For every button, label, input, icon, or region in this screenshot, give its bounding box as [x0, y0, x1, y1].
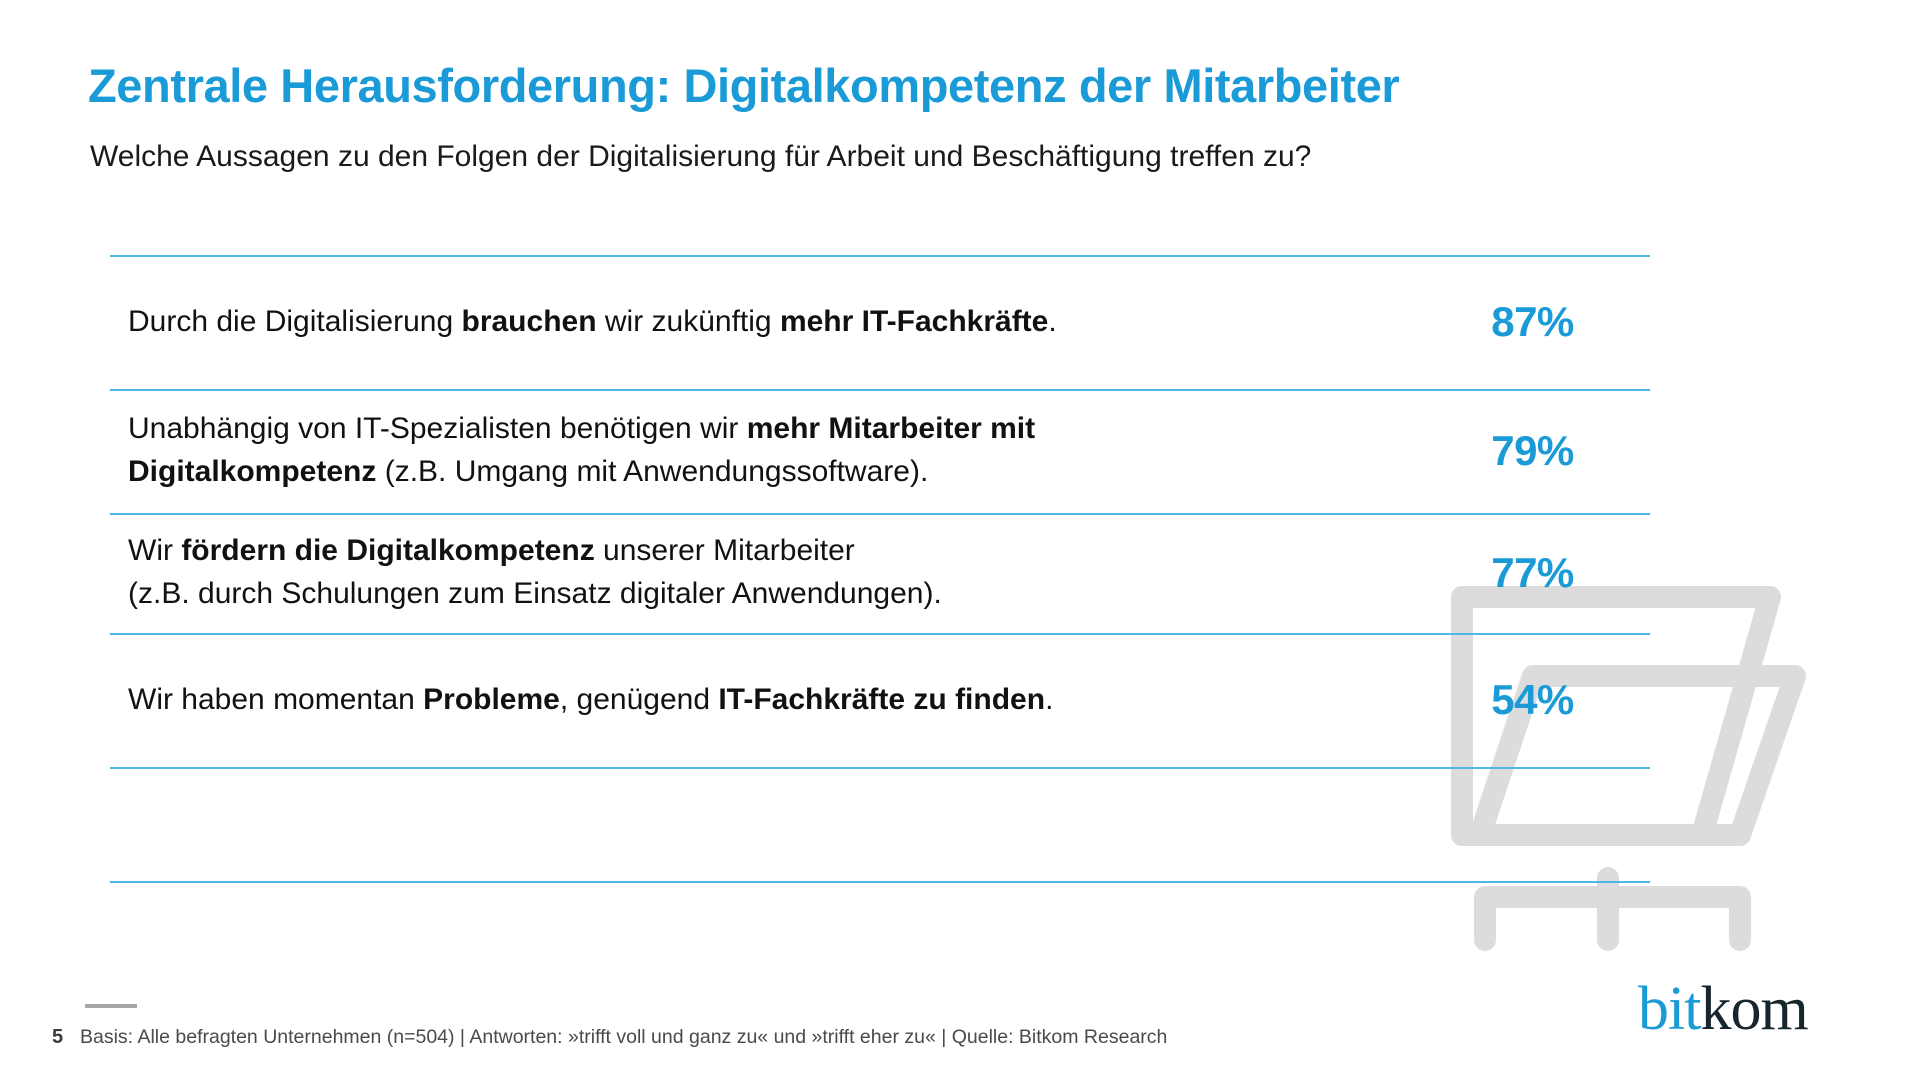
statement-text: Durch die Digitalisierung brauchen wir z…	[110, 301, 1415, 344]
logo-part-blue: bit	[1638, 975, 1700, 1043]
footer-source-note: Basis: Alle befragten Unternehmen (n=504…	[80, 1026, 1167, 1049]
page-title: Zentrale Herausforderung: Digitalkompete…	[88, 58, 1399, 113]
logo-part-dark: kom	[1700, 975, 1807, 1043]
table-row: Wir haben momentan Probleme, genügend IT…	[110, 633, 1650, 767]
page-subtitle: Welche Aussagen zu den Folgen der Digita…	[90, 140, 1311, 174]
table-row: Durch die Digitalisierung brauchen wir z…	[110, 255, 1650, 389]
table-row: Wir fördern die Digitalkompetenz unserer…	[110, 513, 1650, 633]
statement-text: Unabhängig von IT-Spezialisten benötigen…	[110, 408, 1415, 493]
statements-table: Durch die Digitalisierung brauchen wir z…	[110, 255, 1650, 885]
statement-text: Wir fördern die Digitalkompetenz unserer…	[110, 530, 1415, 615]
table-row: Unabhängig von IT-Spezialisten benötigen…	[110, 389, 1650, 513]
footer-rule	[85, 1004, 137, 1008]
table-divider	[110, 881, 1650, 883]
statement-value: 87%	[1415, 298, 1650, 346]
page-number: 5	[52, 1026, 63, 1049]
statement-value: 79%	[1415, 427, 1650, 475]
statement-text: Wir haben momentan Probleme, genügend IT…	[110, 679, 1415, 722]
statement-value: 77%	[1415, 549, 1650, 597]
bitkom-logo: bitkom	[1638, 978, 1808, 1040]
table-divider	[110, 767, 1650, 769]
statement-value: 54%	[1415, 676, 1650, 724]
